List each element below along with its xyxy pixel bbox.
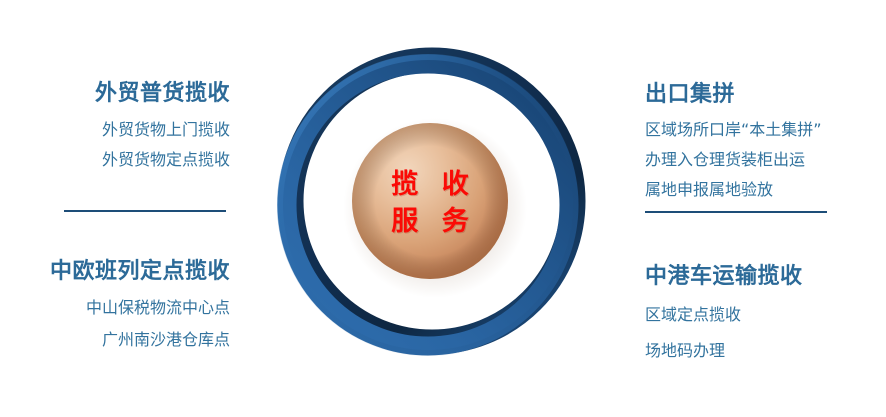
quadrant-top-right-line-2: 办理入仓理货装柜出运 bbox=[645, 152, 886, 168]
quadrant-bottom-left-heading: 中欧班列定点揽收 bbox=[0, 258, 230, 286]
quadrant-bottom-left-line-2: 广州南沙港仓库点 bbox=[0, 332, 230, 348]
quadrant-top-right-line-3: 属地申报属地验放 bbox=[645, 182, 886, 198]
quadrant-top-right: 出口集拼 区域场所口岸“本土集拼” 办理入仓理货装柜出运 属地申报属地验放 bbox=[626, 81, 886, 212]
quadrant-top-left: 外贸普货揽收 外贸货物上门揽收 外贸货物定点揽收 bbox=[0, 80, 260, 182]
center-sphere-shading bbox=[352, 123, 508, 279]
quadrant-top-left-heading: 外贸普货揽收 bbox=[0, 80, 230, 108]
quadrant-bottom-right-line-2: 场地码办理 bbox=[645, 343, 886, 359]
divider-left bbox=[64, 210, 226, 212]
divider-right bbox=[645, 211, 827, 213]
quadrant-bottom-left: 中欧班列定点揽收 中山保税物流中心点 广州南沙港仓库点 bbox=[0, 258, 260, 364]
quadrant-top-left-line-2: 外贸货物定点揽收 bbox=[0, 152, 230, 168]
quadrant-top-right-heading: 出口集拼 bbox=[645, 81, 886, 109]
infographic-canvas: 外贸普货揽收 外贸货物上门揽收 外贸货物定点揽收 出口集拼 区域场所口岸“本土集… bbox=[0, 0, 886, 417]
quadrant-bottom-right: 中港车运输揽收 区域定点揽收 场地码办理 bbox=[626, 263, 886, 379]
center-graphic: 揽 收 服 务 bbox=[265, 38, 595, 368]
quadrant-top-left-line-1: 外贸货物上门揽收 bbox=[0, 122, 230, 138]
quadrant-bottom-right-heading: 中港车运输揽收 bbox=[645, 263, 886, 291]
ring-sphere-svg bbox=[265, 38, 595, 368]
quadrant-bottom-left-line-1: 中山保税物流中心点 bbox=[0, 300, 230, 316]
quadrant-top-right-line-1: 区域场所口岸“本土集拼” bbox=[645, 122, 886, 138]
quadrant-bottom-right-line-1: 区域定点揽收 bbox=[645, 307, 886, 323]
